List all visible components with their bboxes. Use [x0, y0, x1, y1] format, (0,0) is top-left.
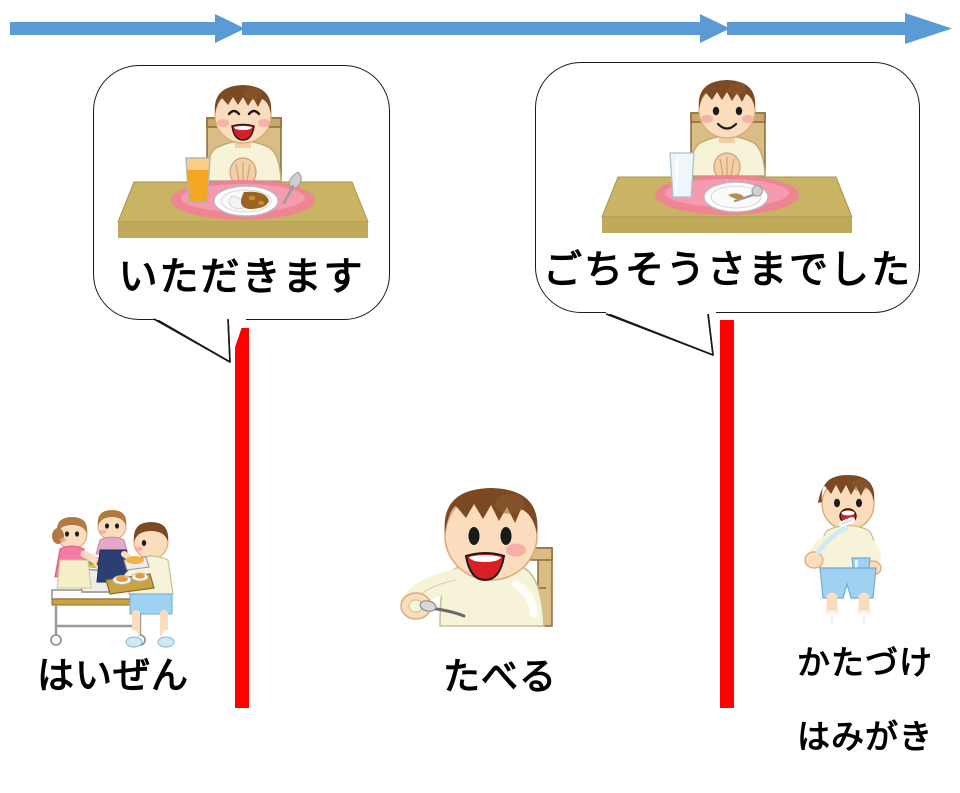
timeline-marker-1 [235, 328, 249, 708]
stage-label-taberu: たべる [400, 656, 600, 697]
scene-gochisousama [596, 71, 858, 236]
stage-label-katazuke: かたづけ はみがき [770, 608, 960, 793]
bubble-tail-2 [600, 295, 730, 367]
bubble-caption-itadakimasu: いただきます [94, 246, 389, 302]
speech-bubble-gochisousama: ごちそうさまでした [535, 62, 920, 313]
stage-label-haizen: はいぜん [18, 655, 208, 696]
stage-label-katazuke-line2: はみがき [770, 719, 960, 756]
bubble-caption-gochisousama: ごちそうさまでした [536, 239, 919, 295]
illustration-serving-lunch [38, 498, 188, 648]
speech-bubble-itadakimasu: いただきます [93, 65, 390, 320]
diagram-canvas: いただきます [0, 0, 960, 720]
illustration-eating [398, 488, 603, 648]
timeline-axis [0, 0, 960, 60]
timeline-marker-2 [720, 320, 734, 708]
bubble-tail-1 [150, 300, 260, 370]
illustration-brushing-teeth [790, 470, 910, 630]
stage-label-katazuke-line1: かたづけ [770, 645, 960, 682]
scene-itadakimasu [112, 76, 374, 241]
